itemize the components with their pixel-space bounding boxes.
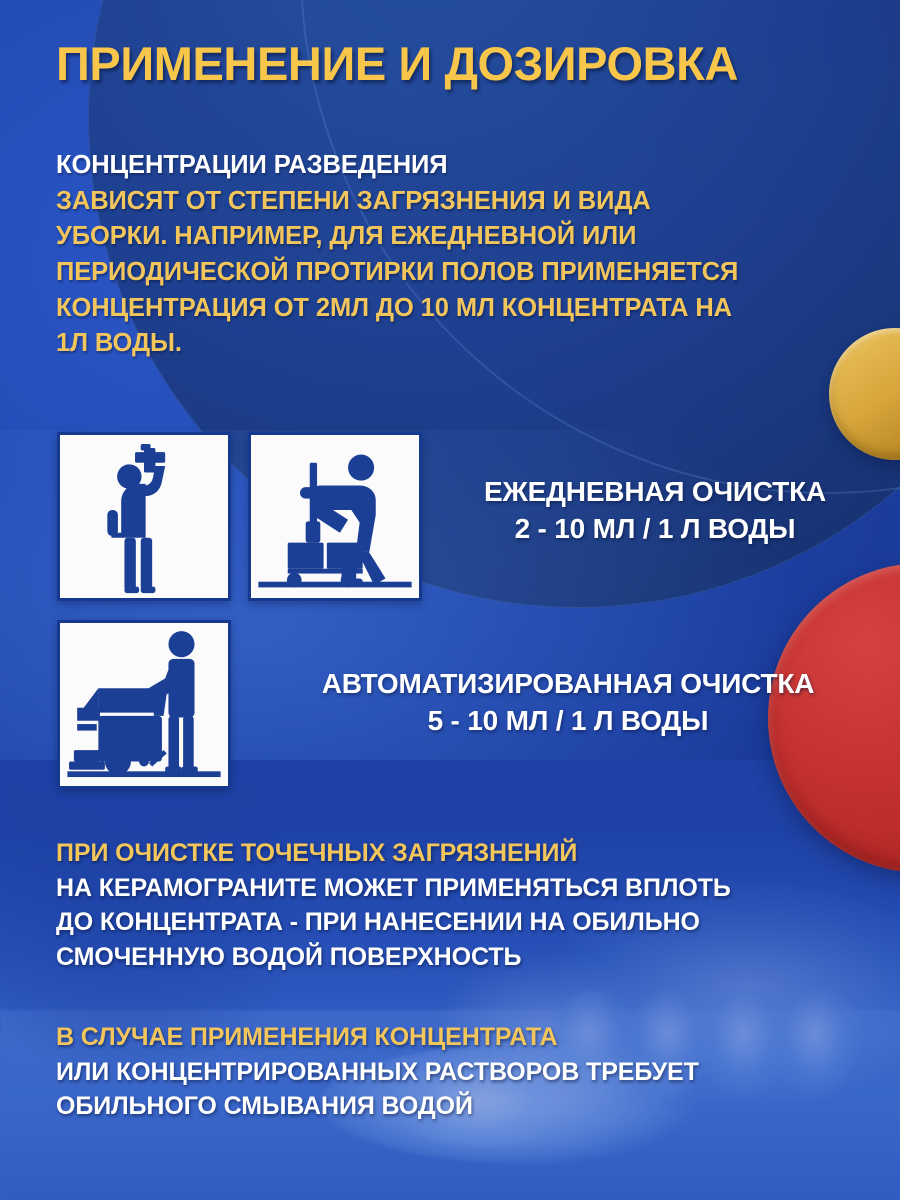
intro-line-1: ЗАВИСЯТ ОТ СТЕПЕНИ ЗАГРЯЗНЕНИЯ И ВИДА	[56, 184, 846, 220]
daily-cleaning-title: ЕЖЕДНЕВНАЯ ОЧИСТКА	[484, 476, 826, 507]
intro-heading: КОНЦЕНТРАЦИИ РАЗВЕДЕНИЯ	[56, 148, 846, 184]
daily-cleaning-amount: 2 - 10 МЛ / 1 Л ВОДЫ	[440, 511, 870, 548]
spot-cleaning-line-1: НА КЕРАМОГРАНИТЕ МОЖЕТ ПРИМЕНЯТЬСЯ ВПЛОТ…	[56, 871, 856, 906]
concentrate-note: В СЛУЧАЕ ПРИМЕНЕНИЯ КОНЦЕНТРАТА ИЛИ КОНЦ…	[56, 1020, 856, 1124]
floor-scrubber-icon	[57, 620, 231, 789]
intro-line-5: 1Л ВОДЫ.	[56, 326, 846, 362]
intro-line-3: ПЕРИОДИЧЕСКОЙ ПРОТИРКИ ПОЛОВ ПРИМЕНЯЕТСЯ	[56, 255, 846, 291]
intro-paragraph: КОНЦЕНТРАЦИИ РАЗВЕДЕНИЯ ЗАВИСЯТ ОТ СТЕПЕ…	[56, 148, 846, 362]
intro-line-4: КОНЦЕНТРАЦИЯ ОТ 2МЛ ДО 10 МЛ КОНЦЕНТРАТА…	[56, 291, 846, 327]
spot-cleaning-line-2: ДО КОНЦЕНТРАТА - ПРИ НАНЕСЕНИИ НА ОБИЛЬН…	[56, 905, 856, 940]
automated-cleaning-amount: 5 - 10 МЛ / 1 Л ВОДЫ	[258, 703, 878, 740]
photo-blue-tint-overlay	[0, 760, 900, 1200]
concentrate-line-2: ОБИЛЬНОГО СМЫВАНИЯ ВОДОЙ	[56, 1089, 856, 1124]
intro-line-2: УБОРКИ. НАПРИМЕР, ДЛЯ ЕЖЕДНЕВНОЙ ИЛИ	[56, 219, 846, 255]
poster-canvas: ПРИМЕНЕНИЕ И ДОЗИРОВКА КОНЦЕНТРАЦИИ РАЗВ…	[0, 0, 900, 1200]
automated-cleaning-title: АВТОМАТИЗИРОВАННАЯ ОЧИСТКА	[322, 668, 815, 699]
manual-wiping-icon	[57, 432, 231, 601]
spot-cleaning-highlight: ПРИ ОЧИСТКЕ ТОЧЕЧНЫХ ЗАГРЯЗНЕНИЙ	[56, 836, 856, 871]
cleaning-photo	[0, 760, 900, 1200]
concentrate-line-1: ИЛИ КОНЦЕНТРИРОВАННЫХ РАСТВОРОВ ТРЕБУЕТ	[56, 1055, 856, 1090]
automated-cleaning-dose: АВТОМАТИЗИРОВАННАЯ ОЧИСТКА 5 - 10 МЛ / 1…	[258, 666, 878, 740]
spot-cleaning-line-3: СМОЧЕННУЮ ВОДОЙ ПОВЕРХНОСТЬ	[56, 940, 856, 975]
spot-cleaning-note: ПРИ ОЧИСТКЕ ТОЧЕЧНЫХ ЗАГРЯЗНЕНИЙ НА КЕРА…	[56, 836, 856, 974]
page-title: ПРИМЕНЕНИЕ И ДОЗИРОВКА	[56, 40, 856, 89]
daily-cleaning-dose: ЕЖЕДНЕВНАЯ ОЧИСТКА 2 - 10 МЛ / 1 Л ВОДЫ	[440, 474, 870, 548]
concentrate-highlight: В СЛУЧАЕ ПРИМЕНЕНИЯ КОНЦЕНТРАТА	[56, 1020, 856, 1055]
mop-cart-icon	[248, 432, 422, 601]
